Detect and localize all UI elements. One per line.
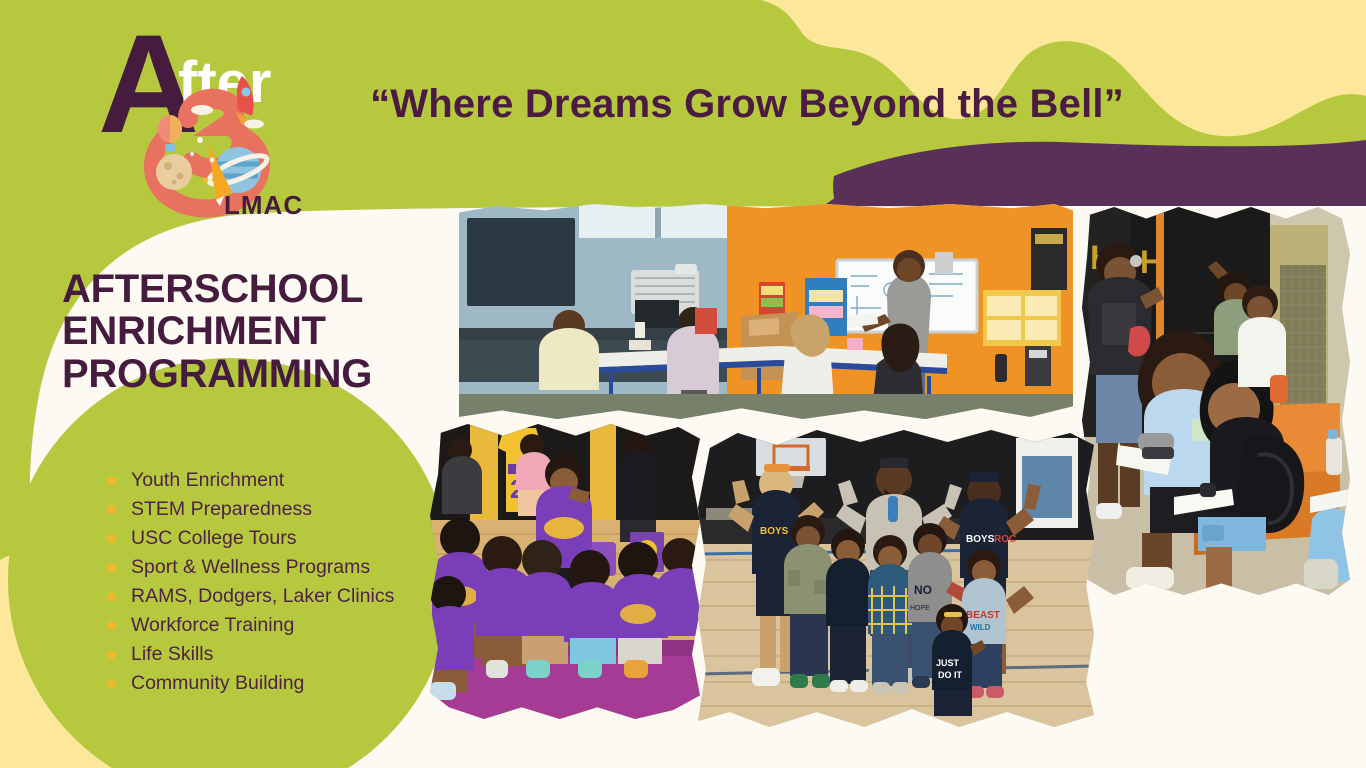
star-icon — [104, 589, 119, 604]
logo-sparkle-icon — [190, 152, 194, 156]
svg-text:BOYS: BOYS — [760, 526, 789, 537]
logo-sparkle-icon — [204, 178, 209, 183]
star-icon — [104, 676, 119, 691]
star-icon — [104, 531, 119, 546]
svg-text:DO IT: DO IT — [938, 670, 963, 680]
logo-moon-icon — [156, 154, 192, 190]
list-item-label: USC College Tours — [131, 527, 296, 550]
star-icon — [104, 473, 119, 488]
photo-gym-group: BOYS — [698, 430, 1094, 730]
page-title: AFTERSCHOOL ENRICHMENT PROGRAMMING — [62, 268, 462, 395]
star-icon — [104, 647, 119, 662]
star-icon — [104, 618, 119, 633]
svg-text:ROC: ROC — [994, 534, 1016, 545]
svg-text:NO: NO — [914, 583, 932, 597]
list-item-label: Youth Enrichment — [131, 469, 284, 492]
list-item-label: Workforce Training — [131, 614, 294, 637]
figure — [868, 535, 912, 694]
poster-canvas: A fter — [0, 0, 1366, 768]
svg-text:BEAST: BEAST — [966, 610, 1000, 621]
list-item: STEM Preparedness — [104, 495, 434, 524]
photo-lakers-clinic: 22 — [430, 424, 700, 719]
list-item-label: Life Skills — [131, 643, 213, 666]
tagline: “Where Dreams Grow Beyond the Bell” — [332, 82, 1162, 127]
logo-cloud-icon — [244, 120, 264, 129]
logo-sub-label: LMAC — [224, 190, 303, 219]
star-icon — [104, 560, 119, 575]
svg-text:BOYS: BOYS — [966, 534, 995, 545]
list-item: Youth Enrichment — [104, 466, 434, 495]
list-item: RAMS, Dodgers, Laker Clinics — [104, 582, 434, 611]
list-item-label: Community Building — [131, 672, 304, 695]
brand-logo: A fter — [96, 14, 306, 219]
logo-sparkle-icon — [210, 158, 215, 163]
photo-students-bench: H H — [1082, 207, 1350, 595]
program-list: Youth Enrichment STEM Preparedness USC C… — [104, 466, 434, 698]
photo-classroom — [459, 204, 1073, 419]
list-item-label: STEM Preparedness — [131, 498, 312, 521]
star-icon — [104, 502, 119, 517]
svg-text:WILD: WILD — [970, 623, 991, 632]
list-item: USC College Tours — [104, 524, 434, 553]
figure — [656, 538, 700, 636]
svg-text:JUST: JUST — [936, 658, 960, 668]
list-item: Workforce Training — [104, 611, 434, 640]
list-item: Sport & Wellness Programs — [104, 553, 434, 582]
list-item-label: Sport & Wellness Programs — [131, 556, 370, 579]
list-item: Life Skills — [104, 640, 434, 669]
svg-text:HOPE: HOPE — [910, 605, 930, 612]
logo-sparkle-icon — [197, 137, 203, 143]
logo-cloud-icon — [191, 105, 213, 115]
list-item: Community Building — [104, 669, 434, 698]
list-item-label: RAMS, Dodgers, Laker Clinics — [131, 585, 394, 608]
